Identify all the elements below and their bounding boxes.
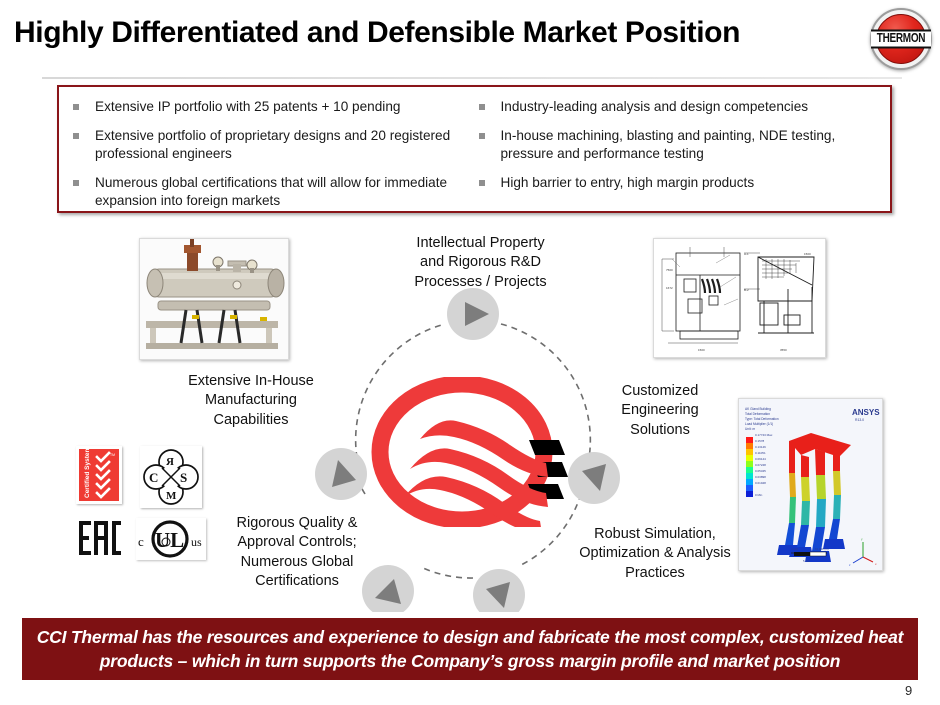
page-number: 9 bbox=[905, 683, 912, 698]
svg-text:S: S bbox=[180, 470, 187, 485]
summary-banner-text: CCI Thermal has the resources and experi… bbox=[36, 625, 904, 673]
bullet-column-right: Industry-leading analysis and design com… bbox=[475, 98, 891, 211]
svg-text:c: c bbox=[138, 534, 144, 549]
node-label-line: Rigorous Quality & bbox=[212, 514, 382, 533]
svg-text:Type: Total Deformation: Type: Total Deformation bbox=[745, 417, 779, 421]
svg-text:TM: TM bbox=[110, 453, 115, 457]
list-item: Extensive IP portfolio with 25 patents +… bbox=[73, 98, 465, 116]
bullet-square-icon bbox=[479, 133, 485, 139]
svg-text:0.01948: 0.01948 bbox=[755, 481, 766, 485]
bullet-column-left: Extensive IP portfolio with 25 patents +… bbox=[59, 98, 475, 211]
svg-text:us: us bbox=[191, 535, 202, 549]
pressure-vessel-photo bbox=[139, 238, 289, 360]
svg-text:0.1578: 0.1578 bbox=[755, 439, 765, 443]
svg-text:1500: 1500 bbox=[698, 348, 705, 352]
node-label-line: Certifications bbox=[212, 572, 382, 591]
cul-us-mark-badge: c UL us bbox=[136, 518, 206, 560]
node-label-line: Manufacturing bbox=[176, 391, 326, 410]
svg-text:0.05345: 0.05345 bbox=[755, 469, 766, 473]
bullet-text: Industry-leading analysis and design com… bbox=[501, 98, 809, 116]
logo-band: THERMON bbox=[871, 30, 931, 49]
svg-text:R13.0: R13.0 bbox=[855, 418, 864, 422]
node-label-line: Optimization & Analysis bbox=[565, 544, 745, 563]
node-label-line: Robust Simulation, bbox=[565, 525, 745, 544]
list-item: Industry-leading analysis and design com… bbox=[479, 98, 881, 116]
bullet-text: Extensive portfolio of proprietary desig… bbox=[95, 127, 465, 163]
logo-wordmark: THERMON bbox=[877, 32, 925, 46]
svg-text:0.13146: 0.13146 bbox=[755, 445, 766, 449]
highlights-box: Extensive IP portfolio with 25 patents +… bbox=[57, 85, 892, 213]
bullet-text: Numerous global certifications that will… bbox=[95, 174, 465, 210]
svg-text:3550: 3550 bbox=[780, 348, 787, 352]
node-label-line: Customized bbox=[600, 382, 720, 401]
node-label-line: Numerous Global bbox=[212, 553, 382, 572]
node-label-line: Extensive In-House bbox=[176, 372, 326, 391]
bullet-square-icon bbox=[479, 104, 485, 110]
svg-text:0.03898: 0.03898 bbox=[755, 475, 766, 479]
page-title: Highly Differentiated and Defensible Mar… bbox=[14, 16, 740, 50]
bullet-square-icon bbox=[479, 180, 485, 186]
svg-text:Я: Я bbox=[166, 456, 174, 468]
svg-text:0.11051: 0.11051 bbox=[755, 451, 766, 455]
node-label-line: Engineering bbox=[600, 401, 720, 420]
svg-text:0.000: 0.000 bbox=[791, 547, 798, 551]
slide: Highly Differentiated and Defensible Mar… bbox=[0, 0, 940, 705]
certified-system-badge: Certified System TM bbox=[76, 446, 122, 504]
svg-text:ANSYS: ANSYS bbox=[852, 408, 880, 417]
cci-thermal-logo bbox=[362, 377, 592, 527]
list-item: In-house machining, blasting and paintin… bbox=[479, 127, 881, 163]
node-label-line: Intellectual Property bbox=[398, 234, 563, 253]
list-item: Numerous global certifications that will… bbox=[73, 174, 465, 210]
svg-text:10.000 (m): 10.000 (m) bbox=[815, 547, 829, 551]
bullet-square-icon bbox=[73, 133, 79, 139]
svg-text:1672: 1672 bbox=[666, 286, 673, 290]
eac-mark-badge bbox=[76, 518, 124, 558]
node-label-line: Processes / Projects bbox=[398, 273, 563, 292]
node-label-quality: Rigorous Quality &Approval Controls;Nume… bbox=[212, 514, 382, 591]
bullet-text: High barrier to entry, high margin produ… bbox=[501, 174, 755, 192]
node-label-line: and Rigorous R&D bbox=[398, 253, 563, 272]
svg-text:M: M bbox=[166, 490, 177, 502]
title-divider bbox=[42, 77, 902, 79]
node-label-intellectual-property: Intellectual Propertyand Rigorous R&DPro… bbox=[398, 234, 563, 292]
svg-text:0.17743 Max: 0.17743 Max bbox=[755, 433, 773, 437]
bullet-square-icon bbox=[73, 180, 79, 186]
svg-text:0 Min: 0 Min bbox=[755, 493, 763, 497]
list-item: High barrier to entry, high margin produ… bbox=[479, 174, 881, 192]
svg-text:7500: 7500 bbox=[666, 268, 673, 272]
svg-text:0.07248: 0.07248 bbox=[755, 463, 766, 467]
bullet-text: Extensive IP portfolio with 25 patents +… bbox=[95, 98, 400, 116]
csa-asme-clover-badge: Я C S M bbox=[140, 446, 202, 508]
svg-text:Unit: m: Unit: m bbox=[745, 427, 755, 431]
svg-text:1500: 1500 bbox=[804, 252, 811, 256]
svg-text:0.09144: 0.09144 bbox=[755, 457, 766, 461]
node-label-line: Practices bbox=[565, 564, 745, 583]
bullet-text: In-house machining, blasting and paintin… bbox=[501, 127, 881, 163]
summary-banner: CCI Thermal has the resources and experi… bbox=[22, 618, 918, 680]
list-item: Extensive portfolio of proprietary desig… bbox=[73, 127, 465, 163]
node-label-line: Solutions bbox=[600, 421, 720, 440]
thermon-logo: THERMON bbox=[870, 8, 932, 70]
engineering-drawing-image: 75001672 A-1B-2 15003550 1500 bbox=[653, 238, 826, 358]
bullet-square-icon bbox=[73, 104, 79, 110]
ansys-fea-simulation-image: AK Gland Building Total Deformation Type… bbox=[738, 398, 883, 571]
svg-text:5.000: 5.000 bbox=[803, 559, 810, 563]
svg-text:A-1: A-1 bbox=[744, 252, 749, 256]
node-label-engineering: CustomizedEngineeringSolutions bbox=[600, 382, 720, 440]
node-label-manufacturing: Extensive In-HouseManufacturingCapabilit… bbox=[176, 372, 326, 430]
svg-text:AK Gland Building: AK Gland Building bbox=[745, 407, 771, 411]
node-label-line: Approval Controls; bbox=[212, 533, 382, 552]
svg-text:C: C bbox=[149, 470, 158, 485]
svg-text:B-2: B-2 bbox=[744, 288, 749, 292]
node-label-simulation: Robust Simulation,Optimization & Analysi… bbox=[565, 525, 745, 583]
node-label-line: Capabilities bbox=[176, 411, 326, 430]
svg-text:Load Multiplier (1/1): Load Multiplier (1/1) bbox=[745, 422, 773, 426]
svg-text:Total Deformation: Total Deformation bbox=[745, 412, 770, 416]
svg-text:Certified System: Certified System bbox=[84, 446, 91, 498]
